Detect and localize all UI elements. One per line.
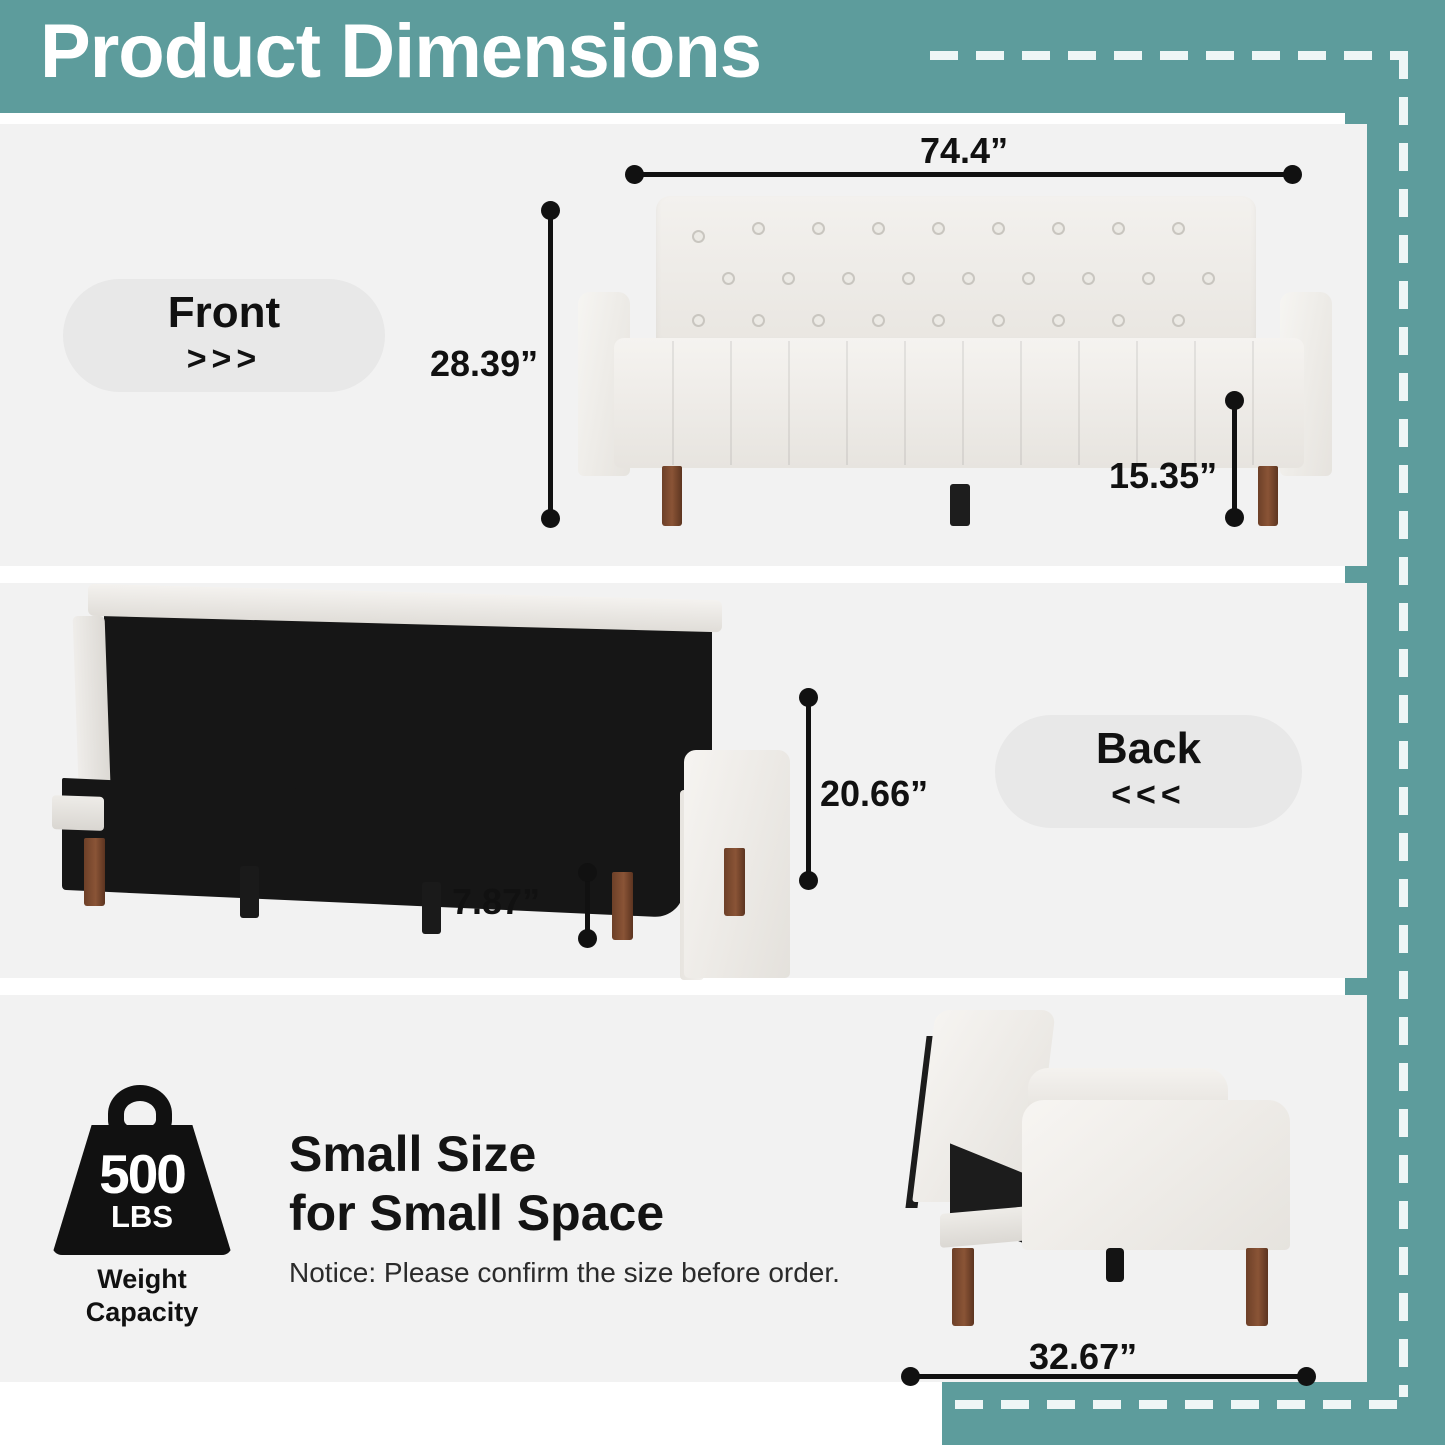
sofa-leg-center	[950, 484, 970, 526]
sofa-back-leg-1	[84, 838, 105, 906]
sofa-back-illustration	[40, 600, 840, 945]
sofa-seat	[614, 338, 1304, 468]
dimension-height-back: 20.66”	[820, 773, 928, 815]
sofa-side-arm	[1022, 1100, 1290, 1250]
weight-value: 500	[46, 1147, 238, 1202]
dimension-height-front: 28.39”	[430, 343, 538, 385]
sofa-side-leg-left	[952, 1248, 974, 1326]
measure-line-width-front	[630, 172, 1297, 177]
back-view-badge: Back <<<	[995, 715, 1302, 828]
promo-headline: Small Size for Small Space	[289, 1125, 664, 1243]
infographic-page: Product Dimensions Front >>>	[0, 0, 1445, 1445]
dimension-width-front: 74.4”	[920, 130, 1008, 172]
sofa-back-leg-3	[422, 882, 441, 934]
sofa-back-front-rail	[52, 795, 104, 831]
promo-notice: Notice: Please confirm the size before o…	[289, 1257, 840, 1289]
dimension-depth-side: 32.67”	[1029, 1336, 1137, 1378]
measure-line-seat-height	[1232, 396, 1237, 522]
sofa-side-leg-center	[1106, 1248, 1124, 1282]
sofa-back-panel	[104, 598, 712, 815]
sofa-backrest	[656, 196, 1256, 346]
page-title: Product Dimensions	[40, 10, 761, 94]
sofa-back-leg-4	[612, 872, 633, 940]
dimension-seat-height: 15.35”	[1109, 455, 1217, 497]
front-view-badge: Front >>>	[63, 279, 385, 392]
back-view-label: Back	[1096, 726, 1201, 772]
dashed-line-top	[930, 51, 1408, 60]
sofa-front-illustration	[570, 196, 1340, 526]
weight-capacity-icon: 500 LBS Weight Capacity	[46, 1085, 236, 1345]
sofa-back-leg-2	[240, 866, 259, 918]
sofa-leg-right	[1258, 466, 1278, 526]
sofa-side-leg-right	[1246, 1248, 1268, 1326]
front-view-label: Front	[168, 290, 280, 336]
weight-caption: Weight Capacity	[36, 1263, 248, 1329]
dimension-leg-height: 7.87”	[452, 881, 540, 923]
measure-line-height-back	[806, 693, 811, 885]
back-view-arrows-icon: <<<	[1111, 773, 1186, 817]
sofa-back-leg-5	[724, 848, 745, 916]
dashed-line-bottom	[955, 1400, 1410, 1409]
sofa-side-illustration	[910, 1010, 1340, 1350]
measure-line-leg-height	[585, 868, 590, 943]
weight-unit: LBS	[46, 1201, 238, 1232]
sofa-leg-left	[662, 466, 682, 526]
sofa-side-base-front	[940, 1206, 1030, 1248]
dashed-line-right	[1399, 51, 1408, 1397]
front-view-arrows-icon: >>>	[187, 337, 262, 381]
measure-line-height-front	[548, 206, 553, 523]
